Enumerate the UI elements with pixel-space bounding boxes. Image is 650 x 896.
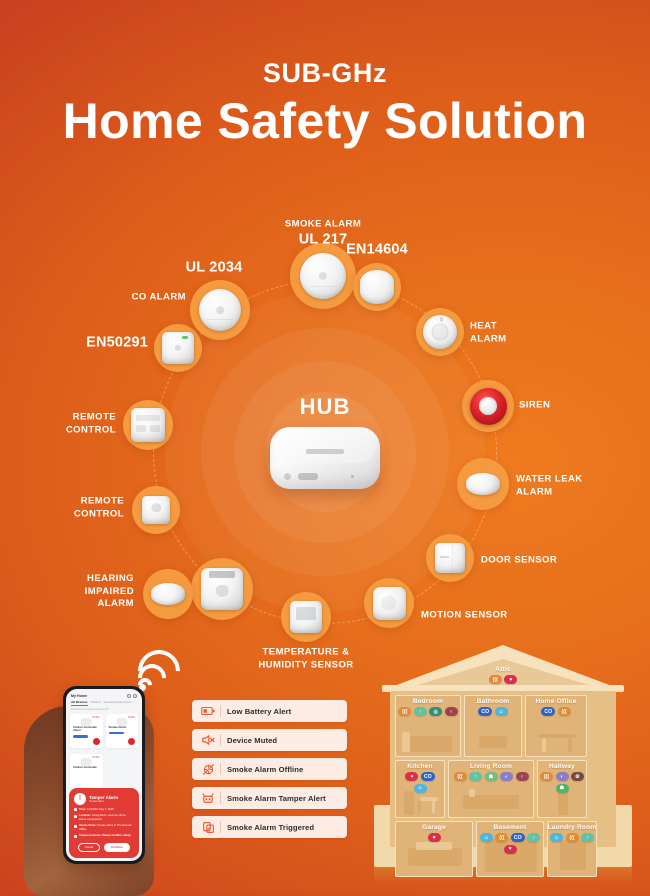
device-card[interactable]: TO-DO Carbon monoxide	[70, 754, 103, 788]
house-cutaway-illustration: Attic(((♥Bedroom(((↑◎♀BathroomCO☺Home Of…	[368, 645, 638, 885]
alarm-detail-row: Tampered device. Please Confirm safety.	[74, 834, 134, 838]
alert-row[interactable]: Smoke Alarm Triggered	[192, 816, 347, 838]
node-standard-co-alarm-ul2034: UL 2034	[186, 258, 243, 277]
card-status: TO-DO	[128, 717, 135, 719]
device-node-smoke-alarm-en14604[interactable]	[353, 263, 401, 311]
th-sensor-icon	[290, 601, 322, 633]
furniture	[463, 795, 519, 809]
alert-label: Device Muted	[227, 736, 277, 745]
remote-pendant-icon	[142, 496, 170, 524]
device-card[interactable]: TO-DO Carbon monoxide Alarm	[70, 714, 103, 748]
alarm-indicator	[128, 738, 135, 745]
divider	[220, 763, 221, 775]
alarm-detail-row: Location: Living Room, Herman Home, Home…	[74, 814, 134, 821]
hub-device	[270, 427, 380, 489]
room-label: Home Office	[535, 698, 576, 705]
sensor-badge[interactable]: ↑	[581, 833, 594, 842]
device-node-remote-control-2[interactable]	[132, 486, 180, 534]
sensor-badge[interactable]: ☺	[550, 833, 563, 842]
alert-row[interactable]: Low Battery Alert	[192, 700, 347, 722]
furniture	[479, 736, 507, 748]
sensor-badge[interactable]: ♀	[445, 707, 458, 716]
device-node-hearing-impaired-alarm[interactable]	[143, 569, 193, 619]
speaker-mute-icon	[198, 734, 218, 746]
sensor-badge[interactable]: (((	[558, 707, 571, 716]
sensor-badge[interactable]: (((	[489, 675, 502, 684]
tab-secondary-bedroom[interactable]: Secondary Bedroom	[104, 700, 132, 706]
sensor-badge[interactable]: ♥	[405, 772, 418, 781]
signal-bar	[73, 735, 88, 738]
sensor-badge[interactable]: ☗	[556, 784, 569, 793]
node-label-smoke-alarm-ul217: SMOKE ALARM	[285, 219, 361, 232]
device-node-remote-control-1[interactable]	[123, 400, 173, 450]
alarm-offline-icon	[198, 763, 218, 776]
remote-keypad-icon	[131, 408, 165, 442]
node-standard-smoke-alarm-ul217: UL 217	[299, 230, 348, 249]
node-label-co-alarm-ul2034: CO ALARM	[132, 292, 186, 305]
room-sensor-badges: ♥	[395, 833, 473, 842]
signal-bar	[109, 732, 124, 735]
detail-button[interactable]: Detail	[78, 843, 100, 852]
device-card-name: Smoke Alarm	[109, 726, 136, 729]
furniture	[416, 842, 452, 850]
notification-icon[interactable]	[127, 694, 131, 698]
room-label: Living Room	[470, 763, 512, 770]
motion-sensor-icon	[373, 587, 406, 620]
tab-all-devices[interactable]: All Devices	[71, 700, 88, 706]
room-label: Attic	[495, 666, 511, 673]
node-label-temperature-humidity-sensor: TEMPERATURE & HUMIDITY SENSOR	[258, 646, 353, 671]
sensor-badge[interactable]: ☺	[414, 784, 427, 793]
hub-label: HUB	[300, 394, 351, 420]
alert-label: Smoke Alarm Offline	[227, 765, 303, 774]
divider	[220, 821, 221, 833]
add-device-icon[interactable]	[133, 694, 137, 698]
card-status: TO-DO	[92, 757, 99, 759]
sensor-badge[interactable]: (((	[495, 833, 508, 842]
device-node-temperature-humidity-sensor[interactable]	[281, 592, 331, 642]
room-label: Hallway	[549, 763, 575, 770]
device-card-row-1: TO-DO Carbon monoxide Alarm TO-DO Smoke …	[66, 711, 142, 748]
phone-screen: My Home All Devices Shared Secondary Bed…	[66, 689, 142, 861]
device-thumbnail	[81, 718, 92, 726]
sensor-badge[interactable]: (((	[398, 707, 411, 716]
sensor-badge[interactable]: ♀	[516, 772, 529, 781]
room-sensor-badges: ☺(((↑	[547, 833, 597, 842]
node-label-remote-control-2: REMOTE CONTROL	[74, 495, 124, 520]
bullet-icon	[74, 815, 77, 818]
device-thumbnail	[81, 758, 92, 766]
sensor-badge[interactable]: CO	[421, 772, 435, 781]
furniture	[408, 848, 462, 866]
co-alarm-box-icon	[162, 332, 194, 364]
eyebrow-text: SUB-GHz	[0, 58, 650, 89]
room-sensor-badges: CO(((	[525, 707, 587, 716]
node-standard-smoke-alarm-en14604: EN14604	[346, 240, 408, 259]
device-node-heat-alarm[interactable]	[416, 308, 464, 356]
furniture	[406, 736, 452, 752]
room-sensor-badges: (((♥	[463, 675, 543, 684]
furniture	[404, 791, 414, 815]
sensor-badge[interactable]: ◎	[429, 707, 442, 716]
smoke-alarm-icon	[300, 253, 346, 299]
alert-row[interactable]: Smoke Alarm Tamper Alert	[192, 787, 347, 809]
room-sensor-badges: ☺(((CO↑♥	[476, 833, 544, 854]
alarm-detail-row: Device Name: Smoke alarm in The Herman O…	[74, 824, 134, 831]
alarm-indicator	[93, 738, 100, 745]
divider	[220, 705, 221, 717]
tamper-icon	[198, 792, 218, 804]
sensor-badge[interactable]: CO	[511, 833, 525, 842]
device-card-name: Carbon monoxide	[73, 766, 100, 769]
furniture	[469, 789, 475, 797]
alert-label: Smoke Alarm Tamper Alert	[227, 794, 326, 803]
bullet-icon	[74, 835, 77, 838]
room-sensor-badges: (((↑◎♀	[395, 707, 461, 716]
device-card-name: Carbon monoxide Alarm	[73, 726, 100, 733]
bed-shaker-icon	[201, 568, 243, 610]
device-node-motion-sensor[interactable]	[364, 578, 414, 628]
furniture	[560, 840, 586, 870]
sensor-badge[interactable]: ♥	[504, 845, 517, 854]
device-card-row-2: TO-DO Carbon monoxide	[66, 751, 142, 788]
app-tabs: All Devices Shared Secondary Bedroom	[66, 700, 142, 706]
alarm-triggered-icon	[198, 821, 218, 834]
co-alarm-icon	[199, 289, 241, 331]
bullet-icon	[74, 808, 77, 811]
device-node-hearing-impaired-alarm-2[interactable]	[191, 558, 253, 620]
node-label-remote-control-1: REMOTE CONTROL	[66, 411, 116, 436]
room-sensor-badges: CO☺	[464, 707, 522, 716]
phone-mockup: My Home All Devices Shared Secondary Bed…	[63, 686, 145, 864]
room-label: Kitchen	[407, 763, 433, 770]
tab-shared[interactable]: Shared	[91, 700, 101, 706]
device-node-door-sensor[interactable]	[426, 534, 474, 582]
furniture	[432, 801, 435, 813]
room-label: Garage	[422, 824, 446, 831]
device-node-siren[interactable]	[462, 380, 514, 432]
node-label-heat-alarm: HEAT ALARM	[470, 320, 507, 345]
sensor-badge[interactable]: ◐	[500, 772, 513, 781]
confirm-button[interactable]: Confirm	[104, 843, 130, 852]
room-label: Basement	[493, 824, 526, 831]
tamper-icon: !	[74, 793, 86, 805]
page-title: Home Safety Solution	[0, 95, 650, 148]
sensor-badge[interactable]: CO	[478, 707, 492, 716]
alarm-subtitle: Smoke alarm	[89, 800, 118, 803]
device-node-co-alarm-en50291[interactable]	[154, 324, 202, 372]
room-sensor-badges: (((↑☗◐♀	[448, 772, 534, 781]
poster-header: SUB-GHz Home Safety Solution	[0, 58, 650, 148]
sensor-badge[interactable]: ◐	[556, 772, 569, 781]
room-label: Bedroom	[413, 698, 443, 705]
furniture	[542, 738, 546, 752]
strobe-alarm-icon	[151, 583, 185, 605]
sensor-badge[interactable]: (((	[566, 833, 579, 842]
siren-icon	[470, 388, 507, 425]
door-sensor-icon	[435, 543, 465, 573]
smoke-alarm-flat-icon	[360, 270, 394, 304]
sensor-badge[interactable]: ↑	[527, 833, 540, 842]
node-label-hearing-impaired-alarm: HEARING IMPAIRED ALARM	[85, 573, 134, 611]
tamper-alarm-card: ! Tamper Alarm Smoke alarm Time: 12:01PM…	[69, 788, 139, 858]
room-sensor-badges: (((◐⚙☗	[537, 772, 587, 793]
alarm-detail-rows: Time: 12:01PM, May 7, 2025.Location: Liv…	[74, 808, 134, 838]
alert-row[interactable]: Device Muted	[192, 729, 347, 751]
sensor-badge[interactable]: ☺	[495, 707, 508, 716]
node-label-motion-sensor: MOTION SENSOR	[421, 610, 508, 623]
sensor-badge[interactable]: CO	[541, 707, 555, 716]
sensor-badge[interactable]: ↑	[414, 707, 427, 716]
water-leak-icon	[466, 473, 500, 495]
home-name: My Home	[71, 694, 87, 698]
sensor-badge[interactable]: ☺	[480, 833, 493, 842]
battery-low-icon	[198, 706, 218, 716]
divider	[220, 734, 221, 746]
poster-canvas: SUB-GHz Home Safety Solution SMOKE ALARM…	[0, 0, 650, 893]
room-label: Bathroom	[477, 698, 510, 705]
alert-row[interactable]: Smoke Alarm Offline	[192, 758, 347, 780]
alarm-detail-row: Time: 12:01PM, May 7, 2025.	[74, 808, 134, 812]
alert-type-list: Low Battery AlertDevice MutedSmoke Alarm…	[192, 700, 347, 838]
furniture	[558, 789, 568, 815]
device-node-water-leak-alarm[interactable]	[457, 458, 509, 510]
node-label-siren: SIREN	[519, 400, 550, 413]
sensor-badge[interactable]: ♥	[504, 675, 517, 684]
furniture	[402, 732, 410, 752]
app-header: My Home	[66, 689, 142, 700]
sensor-badge[interactable]: ⚙	[571, 772, 584, 781]
furniture	[418, 801, 421, 813]
node-standard-co-alarm-en50291: EN50291	[86, 333, 148, 352]
room-label: Laundry Room	[548, 824, 597, 831]
furniture	[420, 797, 438, 801]
bullet-icon	[74, 825, 77, 828]
heat-alarm-icon	[423, 315, 457, 349]
sensor-badge[interactable]: (((	[540, 772, 553, 781]
card-status: TO-DO	[92, 717, 99, 719]
device-card[interactable]: TO-DO Smoke Alarm	[106, 714, 139, 748]
alert-label: Smoke Alarm Triggered	[227, 823, 314, 832]
wifi-icon	[134, 648, 190, 694]
device-thumbnail	[116, 718, 127, 726]
sensor-badge[interactable]: (((	[454, 772, 467, 781]
sensor-badge[interactable]: ♥	[428, 833, 441, 842]
sensor-badge[interactable]: ☗	[485, 772, 498, 781]
node-label-water-leak-alarm: WATER LEAK ALARM	[516, 473, 583, 498]
device-node-co-alarm-ul2034[interactable]	[190, 280, 250, 340]
divider	[220, 792, 221, 804]
room-sensor-badges: ♥CO☺	[395, 772, 445, 793]
sensor-badge[interactable]: ↑	[469, 772, 482, 781]
furniture	[568, 738, 572, 752]
alert-label: Low Battery Alert	[227, 707, 291, 716]
node-label-door-sensor: DOOR SENSOR	[481, 555, 557, 568]
